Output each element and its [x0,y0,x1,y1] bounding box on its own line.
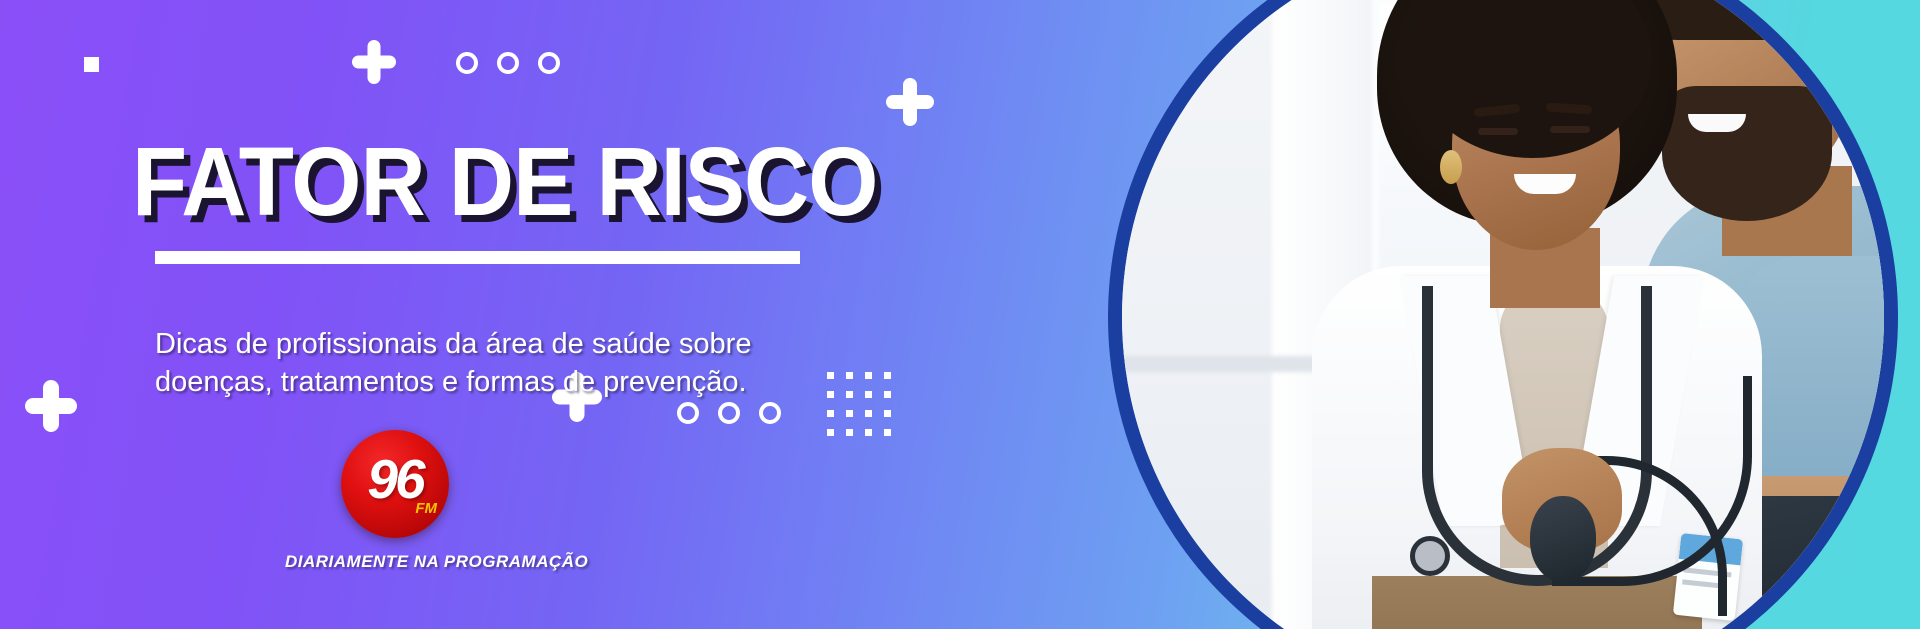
doctor-eye-right [1550,126,1590,133]
patient-beard [1662,86,1832,221]
doctor-earring [1440,150,1462,184]
patient-smile [1688,114,1746,132]
page-title: FATOR DE RISCO [132,133,877,230]
photo-scene [1122,0,1884,629]
clinic-shelf [1122,356,1342,372]
hero-photo [1122,0,1884,629]
sphygmomanometer-bulb [1530,496,1596,582]
tagline-text: DIARIAMENTE NA PROGRAMAÇÃO [285,552,505,572]
radio-96fm-logo-icon: 96 FM [341,430,449,538]
logo-number: 96 [341,452,449,507]
logo-fm-label: FM [415,501,437,516]
banner-root: FATOR DE RISCO Dicas de profissionais da… [0,0,1920,629]
station-logo-block: 96 FM DIARIAMENTE NA PROGRAMAÇÃO [285,430,505,572]
photo-ring-border [1108,0,1898,629]
doctor-eye-left [1478,128,1518,135]
patient-ear [1822,44,1864,100]
content-column: FATOR DE RISCO Dicas de profissionais da… [0,0,1100,629]
patient-hair [1642,0,1850,40]
stethoscope-bell [1410,536,1450,576]
subtitle-text: Dicas de profissionais da área de saúde … [155,325,855,402]
title-underline [155,251,800,264]
